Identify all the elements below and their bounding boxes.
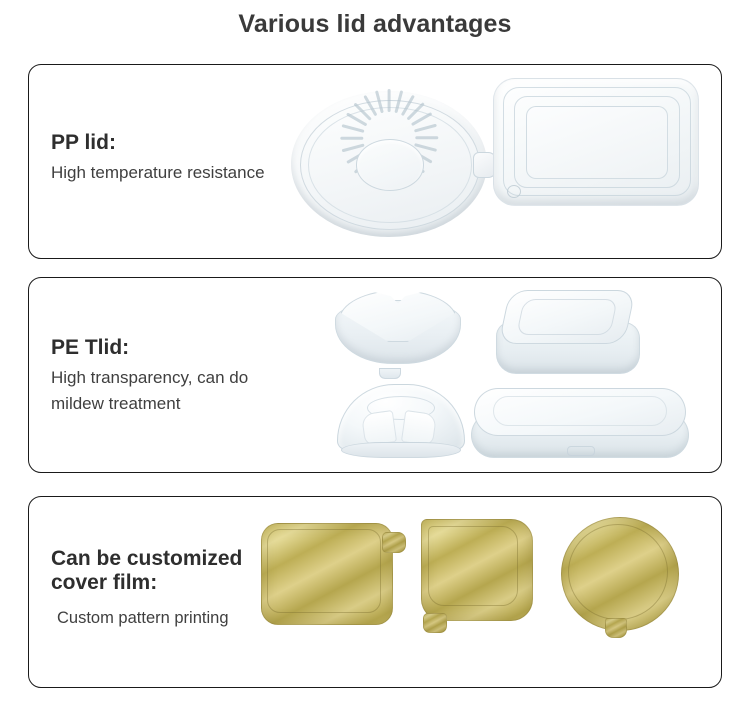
round-gold-foil-lid-image [561,517,679,637]
rectangular-pp-lid-image [493,78,699,206]
card-pe-lid: PE Tlid: High transparency, can do milde… [28,277,722,473]
card-pp-lid: PP lid: High temperature resistance [28,64,722,259]
oval-lid-inner-panel [493,396,667,426]
heart-lid-tab [379,368,401,379]
card-cover-film-subtext: Custom pattern printing [51,606,242,632]
lid-rib-ring-3 [526,106,668,178]
heart-shaped-pe-lid-image [335,290,459,374]
card-pp-lid-subtext: High temperature resistance [51,160,265,186]
dome-lid-base-ring [341,442,461,458]
foil-round-inner-panel [568,524,668,620]
foil-square-pull-tab [423,613,447,633]
rectangular-gold-foil-lid-image [261,523,393,625]
square-pe-lid-image [496,290,638,374]
dome-pe-lid-image [337,386,463,458]
foil-rect-inner-panel [267,529,381,613]
foil-rect-pull-tab [382,532,406,553]
card-cover-film-text: Can be customized cover film: Custom pat… [51,547,242,632]
page-title: Various lid advantages [0,10,750,39]
card-pe-lid-text: PE Tlid: High transparency, can do milde… [51,336,248,418]
dome-lid-segment-left [361,410,397,446]
foil-square-inner-panel [428,526,518,606]
square-lid-inner-panel [516,299,618,335]
card-pp-lid-product-images [281,65,721,258]
card-pe-lid-heading: PE Tlid: [51,336,248,360]
oval-pe-lid-image [471,388,687,458]
card-pe-lid-subtext: High transparency, can do mildew treatme… [51,365,248,418]
card-cover-film-heading: Can be customized cover film: [51,547,242,595]
lid-center-hub [356,139,425,191]
square-gold-foil-lid-image [421,519,531,631]
foil-round-pull-tab [605,618,627,638]
card-cover-film: Can be customized cover film: Custom pat… [28,496,722,688]
card-pp-lid-heading: PP lid: [51,131,265,155]
card-cover-film-product-images [251,497,721,687]
oval-lid-notch [567,446,595,456]
dome-lid-segment-right [401,410,437,446]
card-pe-lid-product-images [321,278,721,472]
card-pp-lid-text: PP lid: High temperature resistance [51,131,265,186]
round-ribbed-pp-lid-image [291,91,487,237]
